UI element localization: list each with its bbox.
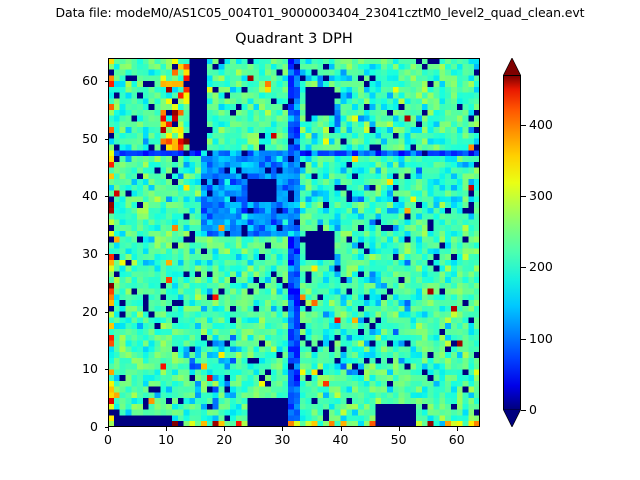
colorbar-extend-max-arrow	[503, 58, 521, 76]
x-tick-label: 30	[262, 432, 302, 447]
y-tick-label: 20	[0, 304, 98, 319]
y-tick-mark	[105, 254, 109, 255]
x-tick-label: 60	[437, 432, 477, 447]
x-tick-mark	[166, 427, 167, 431]
colorbar-tick-mark	[521, 410, 526, 411]
x-tick-mark	[108, 427, 109, 431]
x-tick-mark	[341, 427, 342, 431]
x-tick-label: 0	[88, 432, 128, 447]
y-tick-mark	[105, 312, 109, 313]
y-tick-label: 10	[0, 361, 98, 376]
colorbar-tick-mark	[521, 125, 526, 126]
y-tick-mark	[105, 196, 109, 197]
x-tick-label: 50	[379, 432, 419, 447]
colorbar-extend-min-arrow	[503, 409, 521, 427]
y-tick-mark	[105, 81, 109, 82]
y-tick-label: 40	[0, 188, 98, 203]
detector-pixel-heatmap	[108, 58, 480, 427]
y-tick-label: 60	[0, 73, 98, 88]
x-tick-mark	[224, 427, 225, 431]
x-tick-label: 40	[321, 432, 361, 447]
colorbar-tick-label: 300	[529, 188, 553, 203]
y-tick-label: 30	[0, 246, 98, 261]
colorbar-tick-label: 0	[529, 402, 537, 417]
data-file-suptitle: Data file: modeM0/AS1C05_004T01_90000034…	[0, 5, 640, 20]
y-tick-mark	[105, 427, 109, 428]
x-tick-mark	[282, 427, 283, 431]
x-tick-label: 20	[204, 432, 244, 447]
colorbar-tick-label: 100	[529, 331, 553, 346]
heatmap-plot-area	[108, 58, 480, 427]
y-tick-label: 50	[0, 131, 98, 146]
x-tick-mark	[399, 427, 400, 431]
colorbar	[503, 58, 521, 427]
y-tick-mark	[105, 139, 109, 140]
y-tick-mark	[105, 369, 109, 370]
colorbar-tick-label: 200	[529, 259, 553, 274]
colorbar-tick-mark	[521, 339, 526, 340]
colorbar-gradient	[503, 75, 521, 410]
colorbar-tick-label: 400	[529, 117, 553, 132]
colorbar-tick-mark	[521, 196, 526, 197]
y-tick-label: 0	[0, 419, 98, 434]
colorbar-tick-mark	[521, 267, 526, 268]
matplotlib-figure: Data file: modeM0/AS1C05_004T01_90000034…	[0, 0, 640, 480]
x-tick-mark	[457, 427, 458, 431]
plot-title: Quadrant 3 DPH	[108, 31, 480, 47]
x-tick-label: 10	[146, 432, 186, 447]
